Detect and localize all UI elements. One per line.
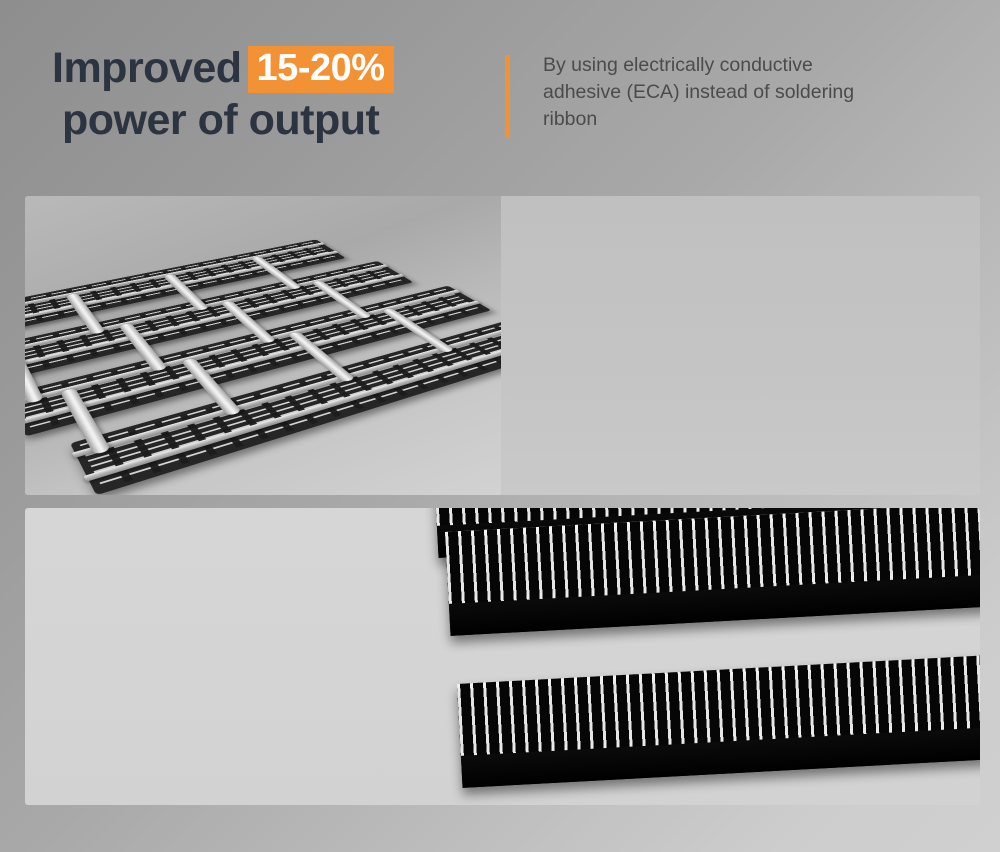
subtitle-line-2: adhesive (ECA) instead of soldering	[543, 79, 963, 106]
infographic-page: Improved15-20% power of output By using …	[0, 0, 1000, 852]
headline-word-improved: Improved	[52, 44, 242, 92]
headline-percent-highlight: 15-20%	[248, 46, 394, 93]
orange-divider	[505, 55, 510, 138]
header: Improved15-20% power of output By using …	[0, 0, 1000, 180]
headline-line-2: power of output	[52, 94, 482, 146]
shingled-cell-strip	[445, 508, 980, 636]
subtitle-line-3: ribbon	[543, 106, 963, 133]
subtitle-text: By using electrically conductive adhesiv…	[543, 52, 963, 133]
conventional-cell-photo	[25, 196, 501, 495]
subtitle-line-1: By using electrically conductive	[543, 52, 963, 79]
shingled-cell-strip	[457, 652, 980, 788]
panel-shingled: Shingled	[25, 508, 980, 805]
panel-conventional: Conventional	[25, 196, 980, 495]
headline-line-1: Improved15-20%	[52, 42, 482, 94]
page-title: Improved15-20% power of output	[52, 42, 482, 146]
conventional-cell-stage	[25, 207, 501, 495]
shingled-cell-photo	[425, 508, 980, 805]
